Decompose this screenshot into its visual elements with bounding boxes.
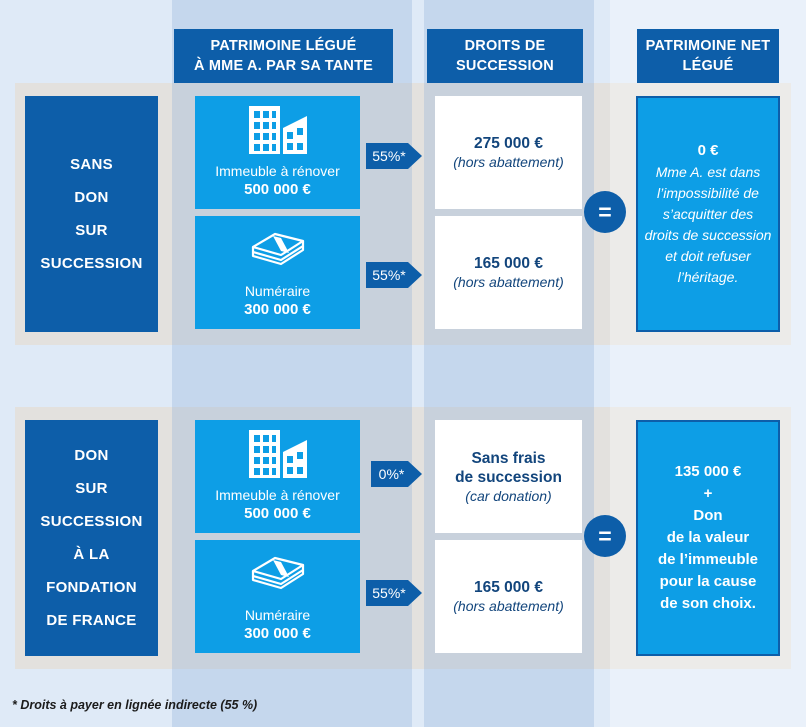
asset-card-immeuble-row-2: Immeuble à rénover 500 000 € — [195, 420, 360, 533]
rate-badge-immeuble-row-1: 55%* — [366, 143, 408, 169]
asset-card-numeraire-row-2: Numéraire 300 000 € — [195, 540, 360, 653]
scenario-line: SUCCESSION — [40, 505, 142, 538]
asset-amount: 300 000 € — [244, 300, 311, 319]
duty-card-immeuble-row-2: Sans fraisde succession (car donation) — [435, 420, 582, 533]
net-detail-line: et doit refuser — [665, 246, 751, 267]
asset-label: Numéraire — [245, 607, 310, 624]
duty-note: (hors abattement) — [453, 597, 564, 615]
asset-label: Immeuble à rénover — [215, 487, 340, 504]
rate-badge-immeuble-row-2: 0%* — [371, 461, 408, 487]
net-detail-line: de son choix. — [660, 593, 756, 615]
duty-amount-line: Sans frais — [455, 449, 562, 468]
equals-icon-row-2: = — [584, 515, 626, 557]
building-icon — [195, 96, 360, 163]
scenario-line: SUCCESSION — [40, 247, 142, 280]
scenario-line: DE FRANCE — [46, 604, 136, 637]
column-header-line-2: SUCCESSION — [456, 56, 554, 76]
scenario-label-row-2: DONSURSUCCESSIONÀ LAFONDATIONDE FRANCE — [25, 420, 158, 656]
net-detail-line: l’héritage. — [678, 267, 739, 288]
scenario-line: DON — [74, 181, 108, 214]
net-detail-line: droits de succession — [645, 225, 772, 246]
scenario-label-row-1: SANSDONSURSUCCESSION — [25, 96, 158, 332]
asset-label: Numéraire — [245, 283, 310, 300]
net-detail-line: l’impossibilité de — [657, 183, 759, 204]
scenario-line: FONDATION — [46, 571, 137, 604]
infographic-root: PATRIMOINE LÉGUÉ À MME A. PAR SA TANTE D… — [0, 0, 806, 727]
net-amount: 135 000 € — [675, 461, 742, 483]
duty-amount: 165 000 € — [474, 254, 543, 273]
duty-amount: 275 000 € — [474, 134, 543, 153]
footnote: * Droits à payer en lignée indirecte (55… — [12, 698, 257, 712]
net-detail-line: pour la cause — [660, 571, 757, 593]
duty-note: (hors abattement) — [453, 273, 564, 291]
column-header-line-1: PATRIMOINE LÉGUÉ — [210, 36, 356, 56]
duty-amount-line: de succession — [455, 468, 562, 487]
scenario-line: SANS — [70, 148, 113, 181]
duty-card-numeraire-row-1: 165 000 € (hors abattement) — [435, 216, 582, 329]
column-header-line-1: PATRIMOINE NET — [646, 36, 771, 56]
asset-card-numeraire-row-1: Numéraire 300 000 € — [195, 216, 360, 329]
asset-amount: 300 000 € — [244, 624, 311, 643]
net-result-row-2: 135 000 €+Donde la valeurde l’immeublepo… — [636, 420, 780, 656]
asset-amount: 500 000 € — [244, 504, 311, 523]
equals-icon-row-1: = — [584, 191, 626, 233]
banknotes-icon — [195, 216, 360, 283]
column-header-line-2: À MME A. PAR SA TANTE — [194, 56, 373, 76]
column-header-patrimoine-net: PATRIMOINE NET LÉGUÉ — [637, 29, 779, 83]
column-header-patrimoine-legue: PATRIMOINE LÉGUÉ À MME A. PAR SA TANTE — [174, 29, 393, 83]
net-detail-line: Don — [693, 505, 722, 527]
column-header-line-1: DROITS DE — [465, 36, 546, 56]
net-detail-line: s’acquitter des — [663, 204, 753, 225]
asset-card-immeuble-row-1: Immeuble à rénover 500 000 € — [195, 96, 360, 209]
rate-badge-numeraire-row-1: 55%* — [366, 262, 408, 288]
net-result-row-1: 0 €Mme A. est dansl’impossibilité des’ac… — [636, 96, 780, 332]
duty-note: (car donation) — [465, 487, 551, 505]
scenario-line: DON — [74, 439, 108, 472]
duty-card-immeuble-row-1: 275 000 € (hors abattement) — [435, 96, 582, 209]
net-detail-line: Mme A. est dans — [656, 162, 761, 183]
asset-label: Immeuble à rénover — [215, 163, 340, 180]
duty-amount: 165 000 € — [474, 578, 543, 597]
banknotes-icon — [195, 540, 360, 607]
column-header-droits-succession: DROITS DE SUCCESSION — [427, 29, 583, 83]
column-header-line-2: LÉGUÉ — [683, 56, 734, 76]
net-detail-line: + — [704, 483, 713, 505]
net-detail-line: de la valeur — [667, 527, 750, 549]
building-icon — [195, 420, 360, 487]
scenario-line: SUR — [75, 214, 108, 247]
net-detail-line: de l’immeuble — [658, 549, 758, 571]
scenario-line: SUR — [75, 472, 108, 505]
asset-amount: 500 000 € — [244, 180, 311, 199]
net-amount: 0 € — [698, 140, 719, 162]
duty-card-numeraire-row-2: 165 000 € (hors abattement) — [435, 540, 582, 653]
duty-amount: Sans fraisde succession — [455, 449, 562, 487]
rate-badge-numeraire-row-2: 55%* — [366, 580, 408, 606]
duty-note: (hors abattement) — [453, 153, 564, 171]
scenario-line: À LA — [73, 538, 109, 571]
